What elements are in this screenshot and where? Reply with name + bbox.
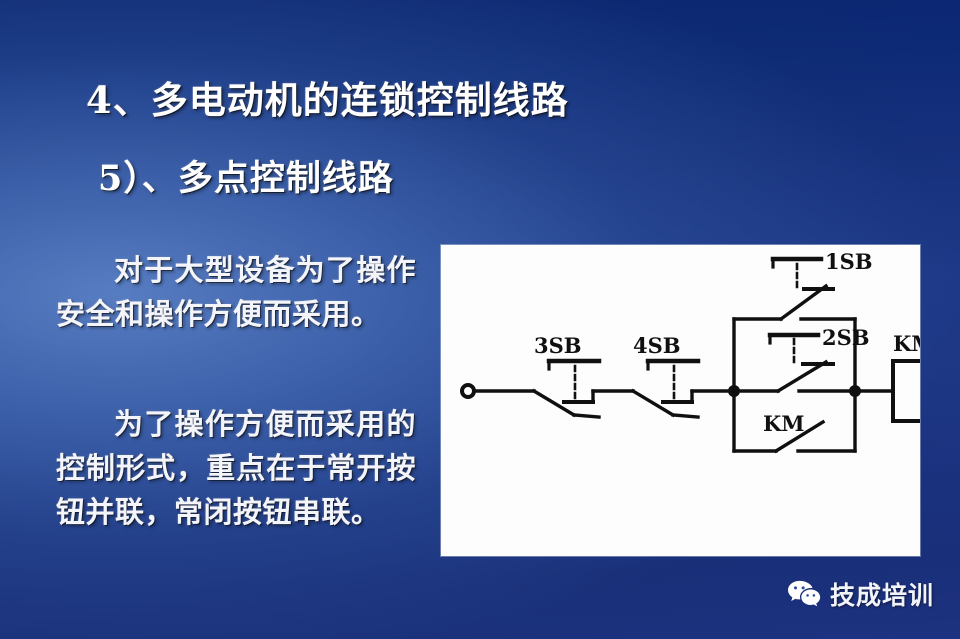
label-sb4: 4SB xyxy=(633,333,681,358)
body-paragraph-2: 为了操作方便而采用的控制形式，重点在于常开按钮并联，常闭按钮串联。 xyxy=(56,402,416,534)
label-km-aux: KM xyxy=(763,411,805,436)
label-sb2: 2SB xyxy=(822,325,870,350)
label-sb1: 1SB xyxy=(825,249,873,274)
page-subtitle: 5）、多点控制线路 xyxy=(98,150,394,201)
body-paragraph-1-text: 对于大型设备为了操作安全和操作方便而采用。 xyxy=(56,253,416,331)
sb3-blade-tail xyxy=(574,415,599,417)
body-paragraph-1: 对于大型设备为了操作安全和操作方便而采用。 xyxy=(56,248,416,336)
circuit-wires xyxy=(462,259,920,451)
body-paragraph-2-text: 为了操作方便而采用的控制形式，重点在于常开按钮并联，常闭按钮串联。 xyxy=(56,407,416,529)
watermark: 技成培训 xyxy=(787,576,934,612)
watermark-text: 技成培训 xyxy=(830,576,934,612)
page-title: 4、多电动机的连锁控制线路 xyxy=(86,70,569,124)
presentation-slide: 4、多电动机的连锁控制线路 5）、多点控制线路 对于大型设备为了操作安全和操作方… xyxy=(0,0,960,639)
left-terminal xyxy=(462,385,474,397)
sb2-blade xyxy=(778,362,826,391)
km-coil-body xyxy=(893,361,920,421)
label-km-coil: KM xyxy=(893,331,920,356)
label-sb3: 3SB xyxy=(534,333,582,358)
circuit-diagram-panel: 3SB 4SB 1SB 2SB KM KM xyxy=(441,245,920,556)
circuit-diagram-svg: 3SB 4SB 1SB 2SB KM KM xyxy=(441,245,920,556)
wechat-icon xyxy=(787,580,821,609)
sb4-blade-tail xyxy=(673,415,698,417)
